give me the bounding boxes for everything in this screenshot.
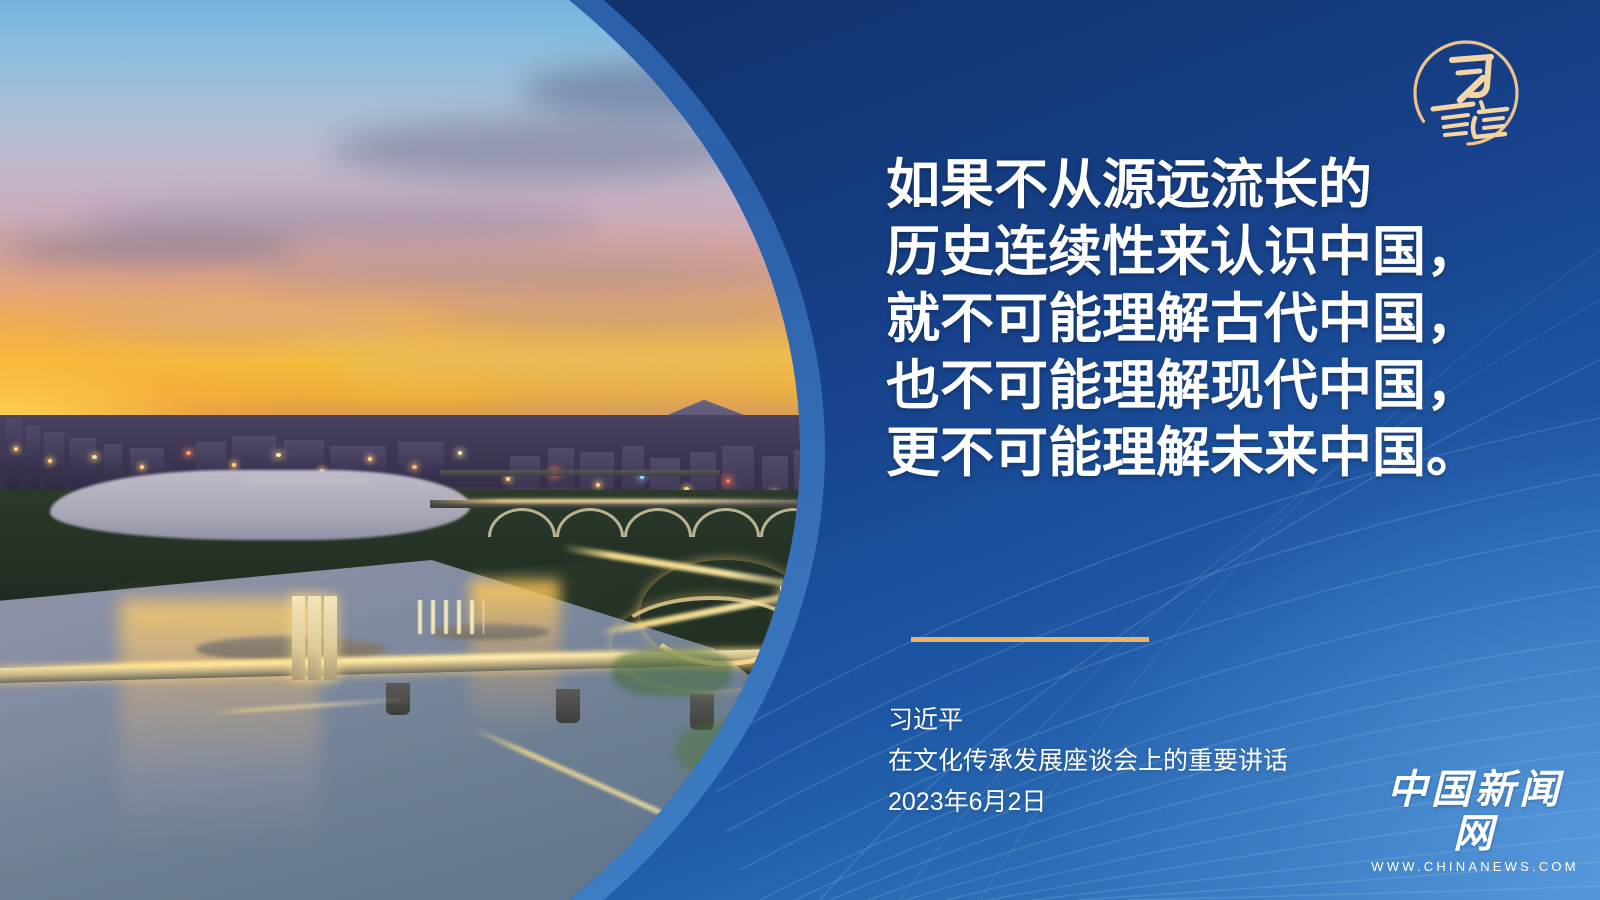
attribution-occasion: 在文化传承发展座谈会上的重要讲话 bbox=[888, 741, 1288, 782]
publisher-url: WWW.CHINANEWS.COM bbox=[1366, 859, 1584, 874]
attribution-speaker: 习近平 bbox=[888, 700, 1288, 741]
publisher-name: 中国新闻网 bbox=[1366, 768, 1584, 856]
cloud bbox=[330, 118, 750, 180]
quote-line: 历史连续性来认识中国， bbox=[886, 219, 1586, 286]
quote-line: 如果不从源远流长的 bbox=[886, 152, 1586, 219]
quote-text: 如果不从源远流长的 历史连续性来认识中国， 就不可能理解古代中国， 也不可能理解… bbox=[886, 152, 1586, 487]
far-bridge-lights bbox=[430, 499, 830, 503]
attribution-date: 2023年6月2日 bbox=[888, 782, 1288, 823]
seal-char-dao bbox=[1473, 102, 1507, 137]
cloud bbox=[330, 348, 830, 378]
series-seal-logo bbox=[1411, 38, 1521, 148]
quote-line: 更不可能理解未来中国。 bbox=[886, 420, 1586, 487]
attribution-block: 习近平 在文化传承发展座谈会上的重要讲话 2023年6月2日 bbox=[888, 700, 1288, 823]
mid-bridge-deck bbox=[440, 470, 720, 476]
upper-river-bend bbox=[50, 470, 470, 540]
publisher-logo: 中国新闻网 WWW.CHINANEWS.COM bbox=[1366, 768, 1584, 874]
cloud bbox=[0, 232, 300, 266]
bridge-pylon bbox=[292, 596, 305, 680]
bridge-pier bbox=[556, 689, 580, 723]
seal-char-xi bbox=[1452, 57, 1491, 100]
gold-divider bbox=[911, 637, 1149, 642]
bridge-pylon bbox=[324, 596, 337, 680]
quote-line: 也不可能理解现代中国， bbox=[886, 353, 1586, 420]
poster-canvas: 如果不从源远流长的 历史连续性来认识中国， 就不可能理解古代中国， 也不可能理解… bbox=[0, 0, 1600, 900]
park-lawn bbox=[612, 648, 732, 696]
cloud bbox=[420, 300, 830, 334]
lit-columns bbox=[418, 600, 484, 634]
seal-char-yan bbox=[1433, 104, 1473, 135]
bridge-pylon bbox=[308, 596, 321, 680]
quote-line: 就不可能理解古代中国， bbox=[886, 286, 1586, 353]
cloud bbox=[250, 254, 810, 294]
